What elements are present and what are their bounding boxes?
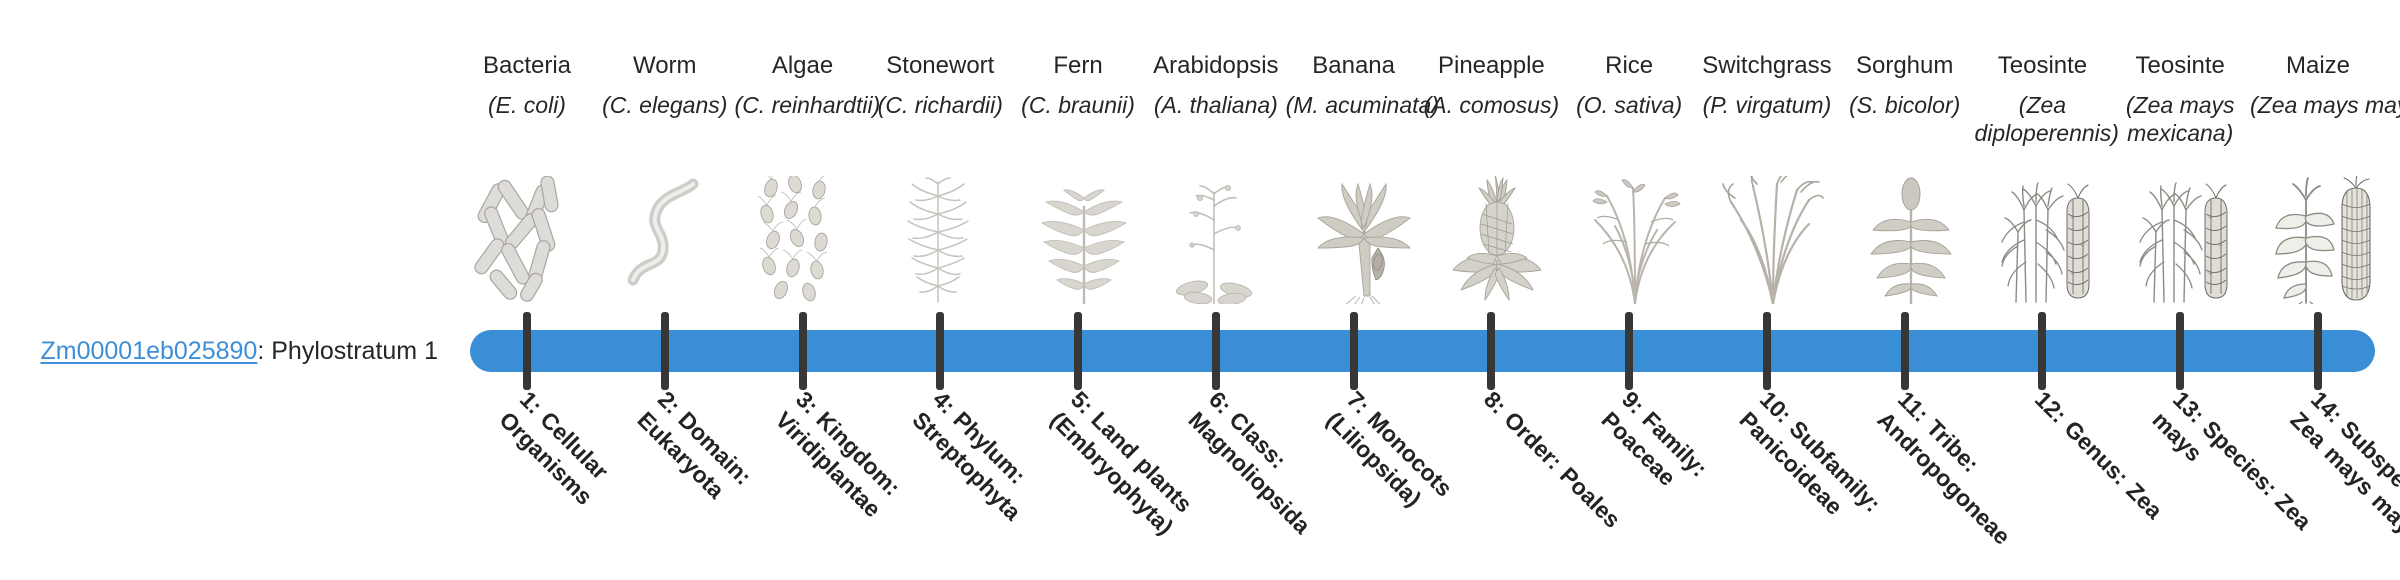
species-common-name: Rice [1561,52,1697,80]
species-header: Fern(C. braunii) [1010,52,1146,120]
species-scientific-name: (Zea diploperennis) [1974,92,2110,147]
species-scientific-name: (Zea mays mays) [2250,92,2386,120]
phylostratum-tick[interactable] [1074,312,1082,390]
species-scientific-name: (C. elegans) [597,92,733,120]
phylostratum-tick[interactable] [1212,312,1220,390]
rice-plant-icon [1569,176,1689,304]
species-header: Switchgrass(P. virgatum) [1699,52,1835,120]
species-common-name: Switchgrass [1699,52,1835,80]
gene-phylostratum-label: Zm00001eb025890: Phylostratum 1 [38,338,438,366]
species-scientific-name: (Zea mays mexicana) [2112,92,2248,147]
fern-frond-icon [1018,176,1138,304]
species-common-name: Algae [735,52,871,80]
switchgrass-plant-icon [1707,176,1827,304]
species-header: Algae(C. reinhardtii) [735,52,871,120]
maize-plant-ear-icon [2258,176,2378,304]
species-common-name: Pineapple [1423,52,1559,80]
species-common-name: Arabidopsis [1148,52,1284,80]
species-common-name: Bacteria [459,52,595,80]
phylostratum-tick[interactable] [1350,312,1358,390]
species-scientific-name: (E. coli) [459,92,595,120]
species-common-name: Maize [2250,52,2386,80]
phylostratum-tick[interactable] [2176,312,2184,390]
gene-id-link[interactable]: Zm00001eb025890 [40,337,257,365]
species-common-name: Banana [1286,52,1422,80]
species-header: Teosinte(Zea mays mexicana) [2112,52,2248,148]
teosinte-plant-ear-icon [1982,176,2102,304]
species-scientific-name: (C. reinhardtii) [735,92,871,120]
phylostratum-track: Bacteria(E. coli)1: Cellular OrganismsWo… [470,0,2375,580]
phylostratum-name: Cellular Organisms [494,400,613,510]
species-scientific-name: (C. richardii) [872,92,1008,120]
gene-phylostratum-value: Phylostratum 1 [271,337,438,365]
phylostratum-tick[interactable] [523,312,531,390]
species-scientific-name: (A. thaliana) [1148,92,1284,120]
sorghum-plant-icon [1845,176,1965,304]
phylostratum-name: Monocots (Liliopsida) [1321,400,1457,511]
species-scientific-name: (O. sativa) [1561,92,1697,120]
species-common-name: Teosinte [1974,52,2110,80]
phylostratum-tick[interactable] [2314,312,2322,390]
bacteria-rods-icon [467,176,587,304]
banana-tree-icon [1294,176,1414,304]
phylostratigraphy-figure: Zm00001eb025890: Phylostratum 1 Bacteria… [0,0,2400,580]
phylostratum-tick[interactable] [1901,312,1909,390]
phylostratum-tick[interactable] [2038,312,2046,390]
phylostratum-tick[interactable] [936,312,944,390]
phylostratum-tick[interactable] [1625,312,1633,390]
species-scientific-name: (P. virgatum) [1699,92,1835,120]
species-common-name: Sorghum [1837,52,1973,80]
phylostratum-name: Family: Poaceae [1596,400,1713,491]
species-header: Bacteria(E. coli) [459,52,595,120]
species-common-name: Worm [597,52,733,80]
stonewort-alga-icon [880,176,1000,304]
species-header: Sorghum(S. bicolor) [1837,52,1973,120]
species-header: Stonewort(C. richardii) [872,52,1008,120]
species-header: Rice(O. sativa) [1561,52,1697,120]
species-header: Pineapple(A. comosus) [1423,52,1559,120]
phylostratum-tick[interactable] [1487,312,1495,390]
species-header: Worm(C. elegans) [597,52,733,120]
species-header: Teosinte(Zea diploperennis) [1974,52,2110,148]
species-header: Banana(M. acuminata) [1286,52,1422,120]
species-scientific-name: (S. bicolor) [1837,92,1973,120]
phylostratum-name: Subfamily: Panicoideae [1734,407,1886,520]
species-common-name: Stonewort [872,52,1008,80]
nematode-worm-icon [605,176,725,304]
species-scientific-name: (M. acuminata) [1286,92,1422,120]
phylostratum-name: Domain: Eukaryota [632,400,757,503]
pineapple-plant-icon [1431,176,1551,304]
phylostratum-bar[interactable] [470,330,2375,372]
green-algae-cells-icon [743,176,863,304]
phylostratum-tick[interactable] [1763,312,1771,390]
arabidopsis-plant-icon [1156,176,1276,304]
species-scientific-name: (A. comosus) [1423,92,1559,120]
teosinte-plant-ear-icon [2120,176,2240,304]
species-header: Maize(Zea mays mays) [2250,52,2386,120]
phylostratum-tick[interactable] [661,312,669,390]
label-separator: : [257,337,271,365]
phylostratum-tick[interactable] [799,312,807,390]
species-scientific-name: (C. braunii) [1010,92,1146,120]
species-common-name: Teosinte [2112,52,2248,80]
species-common-name: Fern [1010,52,1146,80]
species-header: Arabidopsis(A. thaliana) [1148,52,1284,120]
